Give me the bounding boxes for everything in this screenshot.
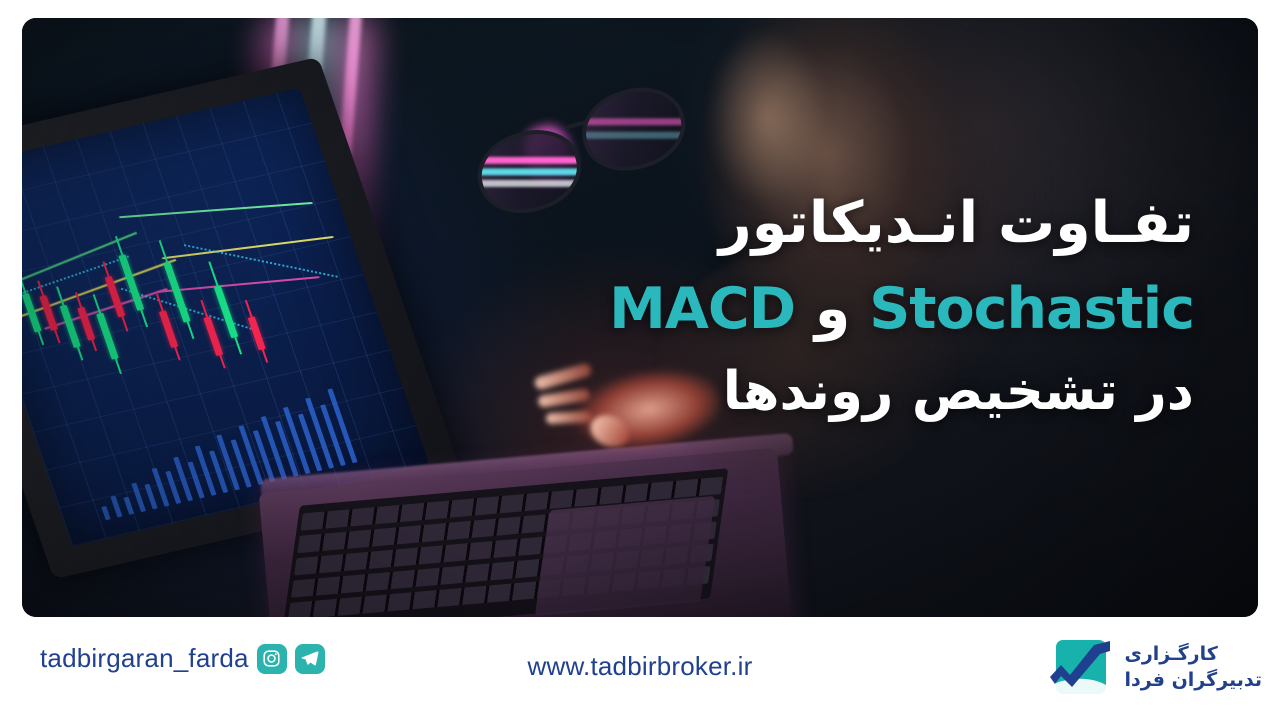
headline-line-2: Stochastic و MACD	[474, 280, 1194, 340]
rising-arrow-chart-logo-icon	[1048, 635, 1114, 701]
headline-block: تفـاوت انـدیکاتور Stochastic و MACD در ت…	[474, 194, 1194, 419]
hero-photo: تفـاوت انـدیکاتور Stochastic و MACD در ت…	[22, 18, 1258, 617]
footer-bar: tadbirgaran_farda www.tadbirbroker.ir کا…	[0, 617, 1280, 720]
brand-text: کارگـزاری تدبیرگران فردا	[1124, 642, 1262, 693]
brand-line-1: کارگـزاری	[1124, 642, 1262, 668]
banner-page: تفـاوت انـدیکاتور Stochastic و MACD در ت…	[0, 0, 1280, 720]
headline-line-1: تفـاوت انـدیکاتور	[474, 194, 1194, 254]
laptop-trackpad	[535, 496, 715, 616]
headline-line-3: در تشخیص روندها	[474, 364, 1194, 420]
lens-reflection-streak	[468, 157, 590, 164]
brand-line-2: تدبیرگران فردا	[1124, 668, 1262, 694]
person-cheek-highlight	[708, 28, 828, 208]
headline-stochastic: Stochastic	[869, 276, 1194, 342]
lens-reflection-streak	[468, 180, 590, 187]
lens-reflection-streak	[573, 118, 695, 125]
lens-reflection-streak	[573, 132, 695, 139]
headline-macd: MACD	[609, 276, 795, 342]
headline-conjunction: و	[815, 276, 850, 342]
lens-reflection-streak	[468, 168, 590, 175]
brand-logo-group[interactable]: کارگـزاری تدبیرگران فردا	[1048, 635, 1262, 701]
